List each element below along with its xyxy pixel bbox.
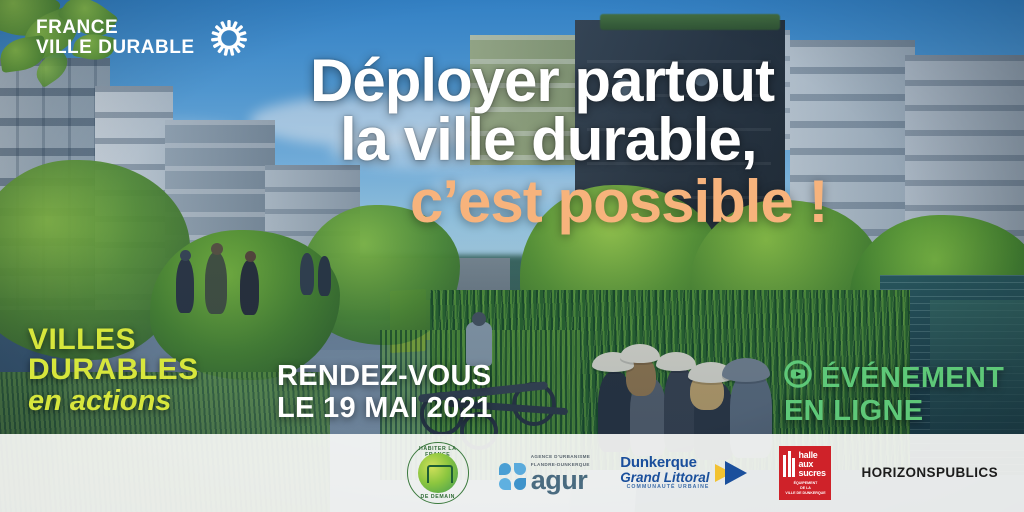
halle-bars-icon: [783, 451, 795, 477]
headline: Déployer partout la ville durable, c’est…: [300, 52, 1000, 232]
halle-footnote: ÉQUIPEMENT DE LA VILLE DE DUNKERQUE: [783, 481, 827, 496]
event-block: ÉVÉNEMENT EN LIGNE: [784, 360, 1004, 428]
halle-footnote-3: VILLE DE DUNKERQUE: [783, 491, 827, 496]
logo-halle-aux-sucres[interactable]: halle aux sucres ÉQUIPEMENT DE LA VILLE …: [779, 446, 831, 500]
date-line-2: LE 19 MAI 2021: [277, 392, 492, 424]
event-line-1: ÉVÉNEMENT: [821, 362, 1004, 394]
campaign-lockup: VILLES DURABLES en actions: [28, 325, 199, 416]
dunkerque-text: Dunkerque Grand Littoral COMMUNAUTÉ URBA…: [620, 455, 709, 490]
play-circle-icon: [784, 360, 812, 395]
headline-line-1: Déployer partout: [300, 52, 1000, 111]
france-ville-durable-logo[interactable]: FRANCE VILLE DURABLE: [36, 18, 249, 58]
logo-horizons-publics[interactable]: HORIZONS PUBLICS: [861, 465, 998, 481]
event-line-2: EN LIGNE: [784, 395, 1004, 427]
agur-wordmark: agur: [531, 469, 590, 492]
logo-habiter-la-france-de-demain[interactable]: HABITER LA FRANCE DE DEMAIN: [407, 442, 469, 504]
hfd-arc-bottom: DE DEMAIN: [407, 494, 469, 500]
logo-agur[interactable]: AGENCE D'URBANISME FLANDRE-DUNKERQUE agu…: [499, 454, 590, 491]
dunkerque-line-2: Grand Littoral: [620, 471, 709, 485]
dunkerque-line-1: Dunkerque: [620, 455, 709, 471]
campaign-line-3: en actions: [28, 387, 199, 416]
agur-text: AGENCE D'URBANISME FLANDRE-DUNKERQUE agu…: [531, 454, 590, 491]
hfd-emblem-icon: [418, 453, 458, 493]
promotional-banner: FRANCE VILLE DURABLE: [0, 0, 1024, 512]
event-line-1-row: ÉVÉNEMENT: [784, 360, 1004, 395]
brand-wordmark: FRANCE VILLE DURABLE: [36, 18, 195, 58]
date-block: RENDEZ-VOUS LE 19 MAI 2021: [277, 360, 492, 425]
halle-word-3: sucres: [798, 469, 825, 478]
horizons-line-1: HORIZONS: [861, 465, 935, 481]
dunkerque-flag-icon: [715, 461, 749, 485]
horizons-line-2: PUBLICS: [936, 465, 998, 481]
brand-line-1: FRANCE: [36, 18, 195, 38]
agur-flower-icon: [499, 463, 526, 490]
partner-logo-bar: HABITER LA FRANCE DE DEMAIN AGENCE D'URB…: [0, 434, 1024, 512]
agur-subtitle-1: AGENCE D'URBANISME: [531, 454, 590, 460]
headline-line-2: la ville durable,: [300, 111, 1000, 170]
headline-line-3-accent: c’est possible !: [300, 172, 1000, 232]
sunburst-ring-icon: [209, 18, 249, 58]
campaign-line-2: DURABLES: [28, 355, 199, 385]
brand-line-2: VILLE DURABLE: [36, 38, 195, 58]
halle-wordmark: halle aux sucres: [798, 451, 825, 478]
logo-dunkerque-grand-littoral[interactable]: Dunkerque Grand Littoral COMMUNAUTÉ URBA…: [620, 455, 749, 490]
date-line-1: RENDEZ-VOUS: [277, 360, 492, 392]
dunkerque-line-3: COMMUNAUTÉ URBAINE: [620, 485, 709, 490]
campaign-line-1: VILLES: [28, 325, 199, 355]
